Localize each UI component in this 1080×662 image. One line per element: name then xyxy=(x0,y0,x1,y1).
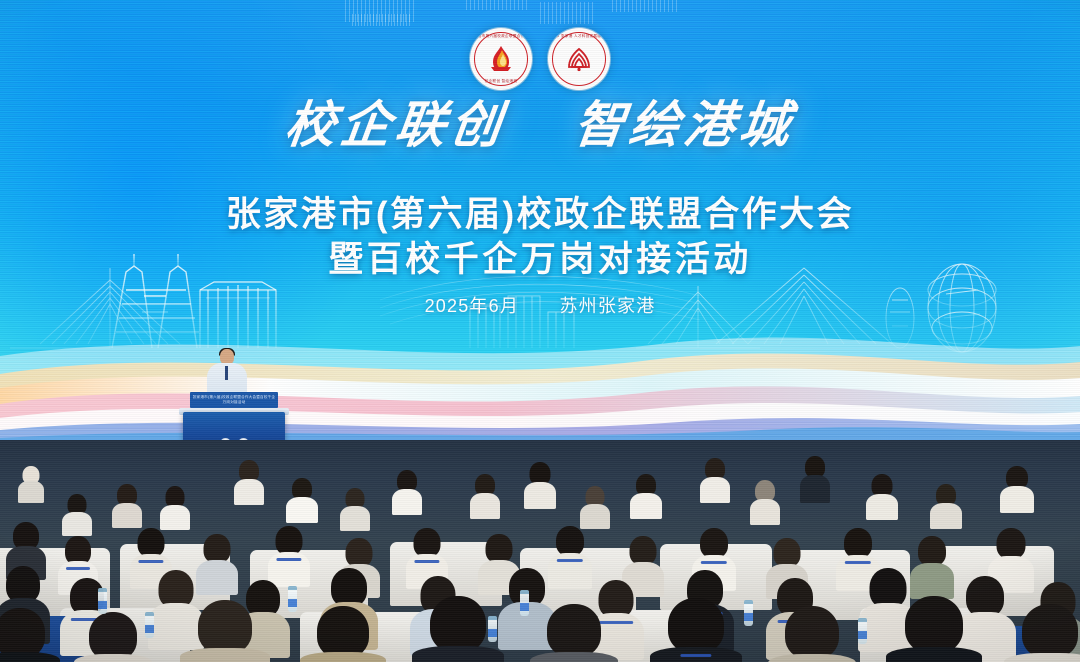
slogan-right-text: 智绘港城 xyxy=(571,97,798,153)
audience-person xyxy=(1000,466,1034,510)
audience-person xyxy=(580,486,610,526)
led-backdrop-screen: 张家港市第六届校政企联盟合作大会 校企联创 智绘港城 苏州市 张家港 人才科创发… xyxy=(0,0,1080,444)
audience-person xyxy=(524,462,556,506)
water-bottle-icon xyxy=(858,618,867,644)
audience-person xyxy=(392,470,422,512)
top-dot-pattern-4 xyxy=(540,2,596,24)
audience-person xyxy=(180,600,270,662)
audience-area xyxy=(0,440,1080,662)
audience-person xyxy=(630,474,662,516)
audience-person xyxy=(0,608,60,662)
audience-person xyxy=(700,458,730,500)
audience-person xyxy=(112,484,142,524)
audience-person xyxy=(286,478,318,520)
audience-person xyxy=(160,486,190,526)
audience-person xyxy=(750,480,780,522)
zhangjiagang-city-emblem-icon: 张家港市第六届校政企联盟合作大会 校企联创 智绘港城 xyxy=(470,28,532,90)
emblem-micro-bottom-text: 校企联创 智绘港城 xyxy=(470,79,532,84)
abstract-mark-icon xyxy=(562,42,596,76)
audience-person xyxy=(650,598,742,662)
audience-person xyxy=(340,488,370,528)
audience-person xyxy=(234,460,264,502)
audience-person xyxy=(866,474,898,516)
audience-person xyxy=(18,466,44,500)
partner-institution-emblem-icon: 苏州市 张家港 人才科创发展服务中心 xyxy=(548,28,610,90)
audience-person xyxy=(74,612,152,662)
conference-stage-photo: 张家港市第六届校政企联盟合作大会 校企联创 智绘港城 苏州市 张家港 人才科创发… xyxy=(0,0,1080,662)
water-bottle-icon xyxy=(98,588,107,614)
page-title-line-1: 张家港市(第六届)校政企联盟合作大会 xyxy=(0,186,1080,237)
audience-person xyxy=(62,494,92,532)
audience-person xyxy=(300,606,386,662)
audience-person xyxy=(768,606,856,662)
audience-person xyxy=(530,604,618,662)
audience-person xyxy=(930,484,962,526)
flame-glyph-icon xyxy=(484,42,518,76)
emblem-micro-top-text: 张家港市第六届校政企联盟合作大会 xyxy=(470,34,532,39)
event-date-text: 2025年6月 xyxy=(425,296,519,316)
top-dot-pattern-2 xyxy=(352,14,412,26)
top-dot-pattern-5 xyxy=(612,0,680,12)
water-bottle-icon xyxy=(520,590,529,616)
water-bottle-icon xyxy=(488,616,497,642)
audience-person xyxy=(470,474,500,516)
emblem-logo-row: 张家港市第六届校政企联盟合作大会 校企联创 智绘港城 苏州市 张家港 人才科创发… xyxy=(0,28,1080,90)
slogan-left-text: 校企联创 xyxy=(282,97,509,153)
event-location-text: 苏州张家港 xyxy=(559,296,655,316)
audience-person xyxy=(1004,604,1080,662)
lectern-banner-text: 张家港市(第六届)校政企联盟合作大会暨百校千企万岗对接活动 xyxy=(190,392,278,408)
audience-person xyxy=(268,526,310,582)
page-title-line-2: 暨百校千企万岗对接活动 xyxy=(0,231,1080,282)
water-bottle-icon xyxy=(744,600,753,626)
ribbon-wave-graphic xyxy=(0,316,1080,444)
top-dot-pattern-3 xyxy=(466,0,528,10)
water-bottle-icon xyxy=(145,612,154,638)
emblem-micro-top-text: 苏州市 张家港 人才科创发展服务中心 xyxy=(548,34,610,39)
calligraphy-slogan: 校企联创 智绘港城 xyxy=(0,100,1080,150)
event-meta-line: 2025年6月 苏州张家港 xyxy=(0,292,1080,318)
audience-person xyxy=(886,596,982,662)
audience-person xyxy=(800,456,830,500)
water-bottle-icon xyxy=(288,586,297,612)
speaker-tie xyxy=(225,366,228,380)
